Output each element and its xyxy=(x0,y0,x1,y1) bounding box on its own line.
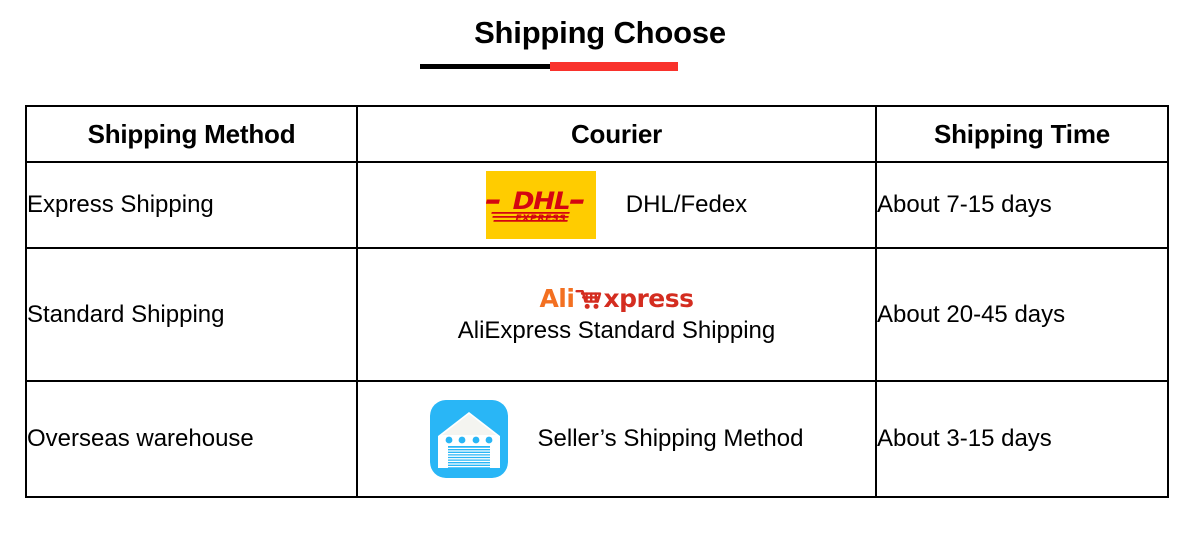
rule-segment-accent xyxy=(550,62,678,71)
aliexpress-logo: Ali xyxy=(539,285,693,313)
courier-inline-group: DHL EXPRESS DHL/Fedex xyxy=(358,171,875,239)
svg-text:DHL: DHL xyxy=(512,187,569,215)
cell-shipping-time: About 3-15 days xyxy=(876,381,1168,497)
header-courier: Courier xyxy=(357,106,876,162)
courier-stack-group: Ali xyxy=(358,285,875,345)
courier-label: DHL/Fedex xyxy=(626,191,747,219)
cell-courier: Ali xyxy=(357,248,876,381)
dhl-express-logo: DHL EXPRESS xyxy=(486,171,596,239)
header-shipping-time: Shipping Time xyxy=(876,106,1168,162)
aliexpress-prefix: Ali xyxy=(539,285,574,313)
table-row: Standard Shipping Ali xyxy=(26,248,1168,381)
cell-courier: Seller’s Shipping Method xyxy=(357,381,876,497)
cell-shipping-time: About 20-45 days xyxy=(876,248,1168,381)
table-header-row: Shipping Method Courier Shipping Time xyxy=(26,106,1168,162)
cell-shipping-method: Standard Shipping xyxy=(26,248,357,381)
aliexpress-suffix: xpress xyxy=(603,285,693,313)
cell-courier: DHL EXPRESS DHL/Fedex xyxy=(357,162,876,248)
cell-shipping-time: About 7-15 days xyxy=(876,162,1168,248)
header-shipping-method: Shipping Method xyxy=(26,106,357,162)
rule-segment-dark xyxy=(420,62,550,71)
shipping-options-table: Shipping Method Courier Shipping Time Ex… xyxy=(25,105,1169,498)
courier-label: Seller’s Shipping Method xyxy=(538,425,804,453)
title-block: Shipping Choose xyxy=(0,0,1200,92)
courier-label: AliExpress Standard Shipping xyxy=(458,317,776,345)
title-underline-rule xyxy=(420,62,678,71)
shopping-cart-icon xyxy=(575,287,602,311)
table-row: Express Shipping DHL xyxy=(26,162,1168,248)
warehouse-icon xyxy=(430,400,508,478)
svg-text:EXPRESS: EXPRESS xyxy=(515,214,566,224)
table-row: Overseas warehouse xyxy=(26,381,1168,497)
courier-inline-group: Seller’s Shipping Method xyxy=(358,400,875,478)
cell-shipping-method: Overseas warehouse xyxy=(26,381,357,497)
cell-shipping-method: Express Shipping xyxy=(26,162,357,248)
page-title: Shipping Choose xyxy=(0,12,1200,54)
